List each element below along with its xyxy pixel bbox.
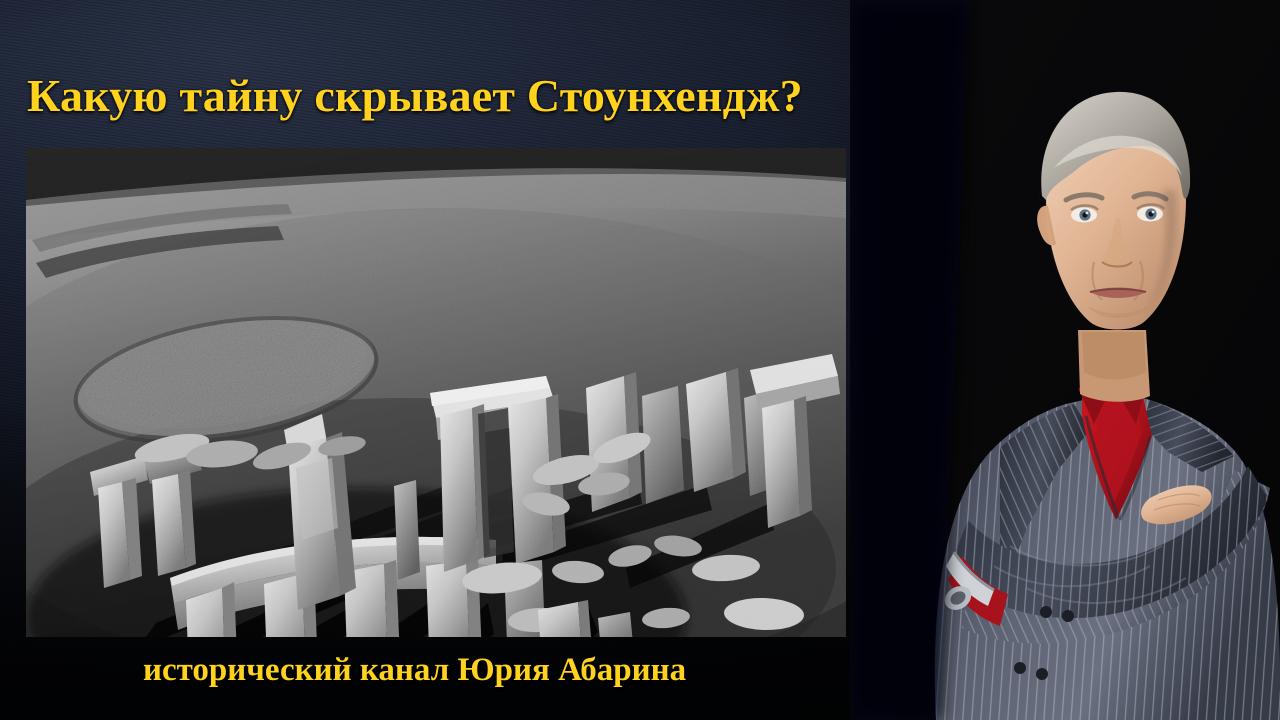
stonehenge-illustration xyxy=(26,148,846,637)
page-title: Какую тайну скрывает Стоунхендж? xyxy=(27,68,1007,124)
stonehenge-aerial-photo xyxy=(26,148,846,637)
channel-subtitle: исторический канал Юрия Абарина xyxy=(143,650,843,690)
thumbnail-canvas: Какую тайну скрывает Стоунхендж? историч… xyxy=(0,0,1280,720)
